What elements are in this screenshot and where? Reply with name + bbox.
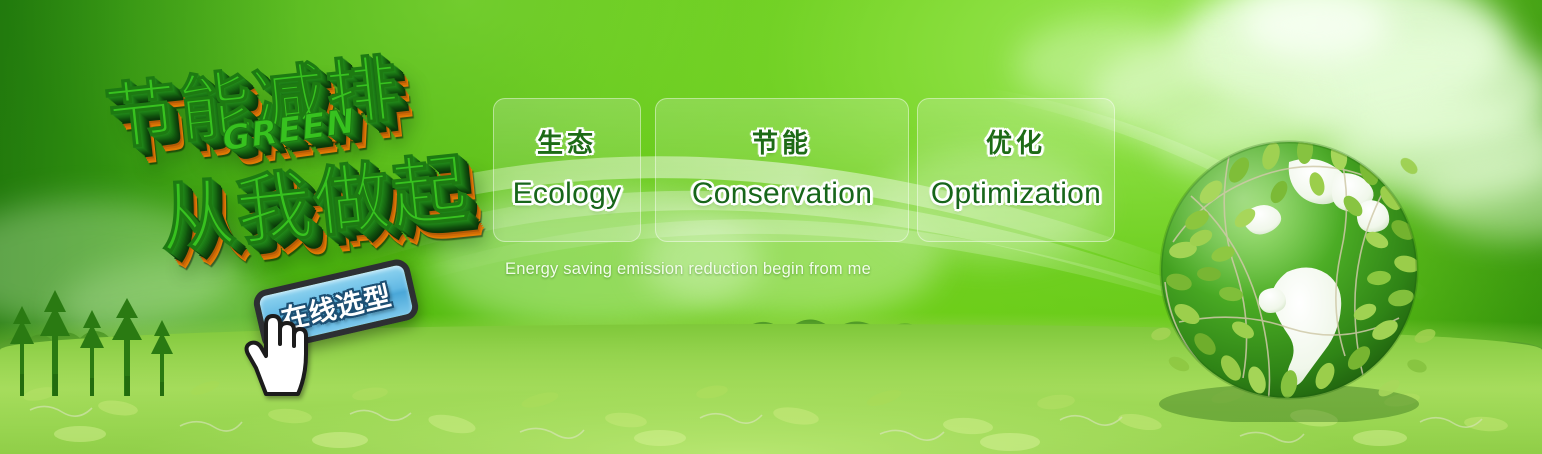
feature-card-en-label: Optimization xyxy=(931,177,1101,210)
feature-card-optimization[interactable]: 优化 Optimization xyxy=(917,98,1115,242)
feature-card-conservation[interactable]: 节能 Conservation xyxy=(655,98,909,242)
feature-card-cn-label: 生态 xyxy=(537,130,597,159)
eco-promo-banner: 节能减排 GREEN 从我做起 在线选型 生态 Ecology 节能 Conse… xyxy=(0,0,1542,454)
banner-tagline: Energy saving emission reduction begin f… xyxy=(505,260,871,279)
feature-card-en-label: Conservation xyxy=(692,177,872,210)
feature-card-cn-label: 优化 xyxy=(986,130,1046,159)
eco-globe-graphic xyxy=(1139,122,1439,422)
feature-card-cn-label: 节能 xyxy=(752,130,812,159)
feature-card-ecology[interactable]: 生态 Ecology xyxy=(493,98,641,242)
feature-card-en-label: Ecology xyxy=(513,177,622,210)
